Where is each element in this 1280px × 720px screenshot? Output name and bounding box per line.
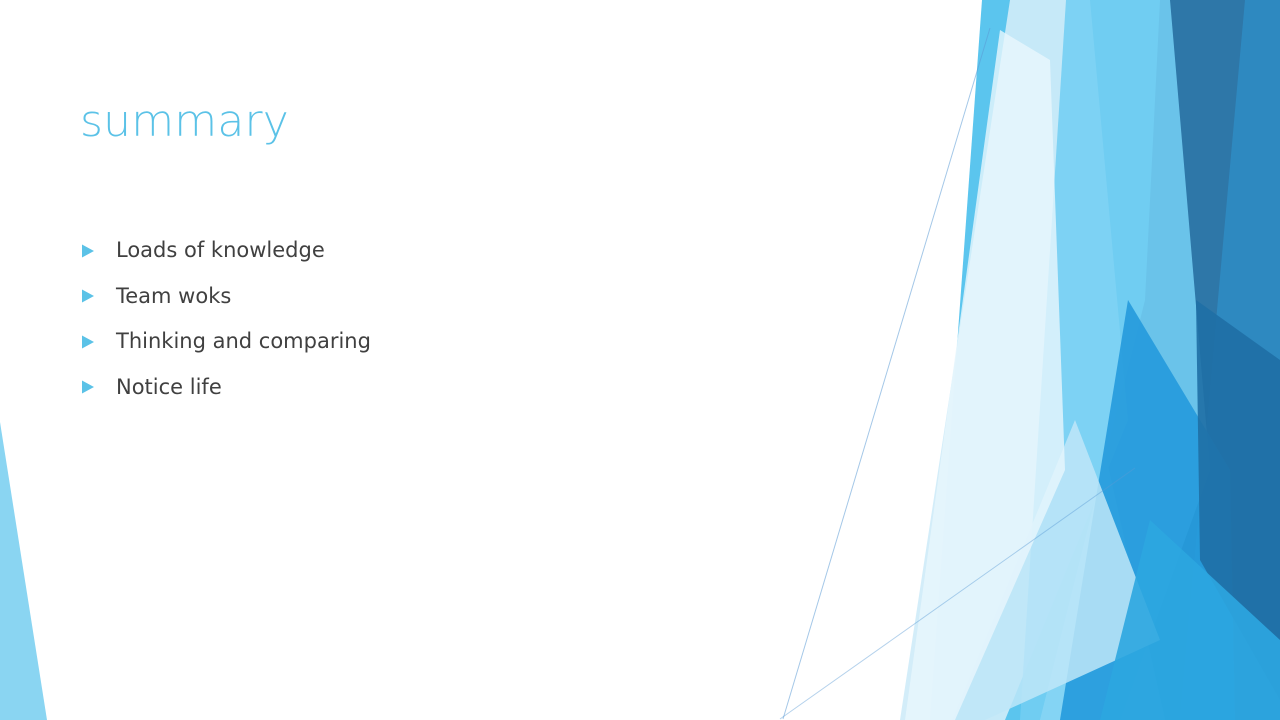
- triangle-right-bullet-icon: [80, 243, 116, 259]
- list-item[interactable]: Notice life: [80, 365, 880, 411]
- list-item-label: Notice life: [116, 377, 222, 398]
- triangle-right-bullet-icon: [80, 288, 116, 304]
- slide-content-area: summary Loads of knowledge Team woks: [0, 0, 1280, 720]
- presentation-slide: summary Loads of knowledge Team woks: [0, 0, 1280, 720]
- list-item[interactable]: Team woks: [80, 274, 880, 320]
- list-item[interactable]: Thinking and comparing: [80, 319, 880, 365]
- list-item-label: Team woks: [116, 286, 231, 307]
- slide-title[interactable]: summary: [80, 97, 289, 148]
- triangle-right-bullet-icon: [80, 334, 116, 350]
- slide-bullet-list: Loads of knowledge Team woks Thinking an…: [80, 228, 880, 410]
- list-item-label: Thinking and comparing: [116, 331, 371, 352]
- list-item-label: Loads of knowledge: [116, 240, 325, 261]
- list-item[interactable]: Loads of knowledge: [80, 228, 880, 274]
- triangle-right-bullet-icon: [80, 379, 116, 395]
